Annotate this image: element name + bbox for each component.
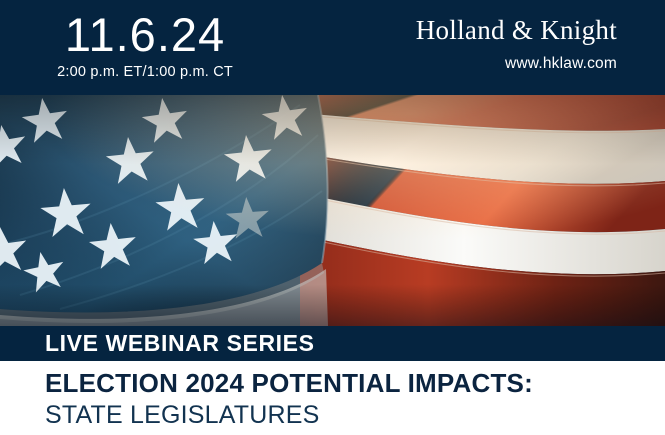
live-webinar-series-bar: LIVE WEBINAR SERIES	[0, 326, 665, 361]
brand-block: Holland & Knight www.hklaw.com	[416, 14, 617, 74]
american-flag-illustration	[0, 95, 665, 326]
brand-website-link[interactable]: www.hklaw.com	[416, 54, 617, 74]
header-bar: 11.6.24 2:00 p.m. ET/1:00 p.m. CT Hollan…	[0, 0, 665, 95]
webinar-subtitle: STATE LEGISLATURES	[45, 400, 320, 430]
title-area: ELECTION 2024 POTENTIAL IMPACTS: STATE L…	[0, 361, 665, 435]
brand-logo-text: Holland & Knight	[416, 14, 617, 46]
webinar-main-title: ELECTION 2024 POTENTIAL IMPACTS:	[45, 367, 533, 399]
webinar-promo-card: 11.6.24 2:00 p.m. ET/1:00 p.m. CT Hollan…	[0, 0, 665, 435]
date-block: 11.6.24 2:00 p.m. ET/1:00 p.m. CT	[0, 10, 290, 82]
webinar-date: 11.6.24	[0, 10, 290, 60]
live-webinar-series-label: LIVE WEBINAR SERIES	[45, 326, 315, 361]
webinar-time: 2:00 p.m. ET/1:00 p.m. CT	[0, 62, 290, 82]
hero-image-american-flag	[0, 95, 665, 326]
